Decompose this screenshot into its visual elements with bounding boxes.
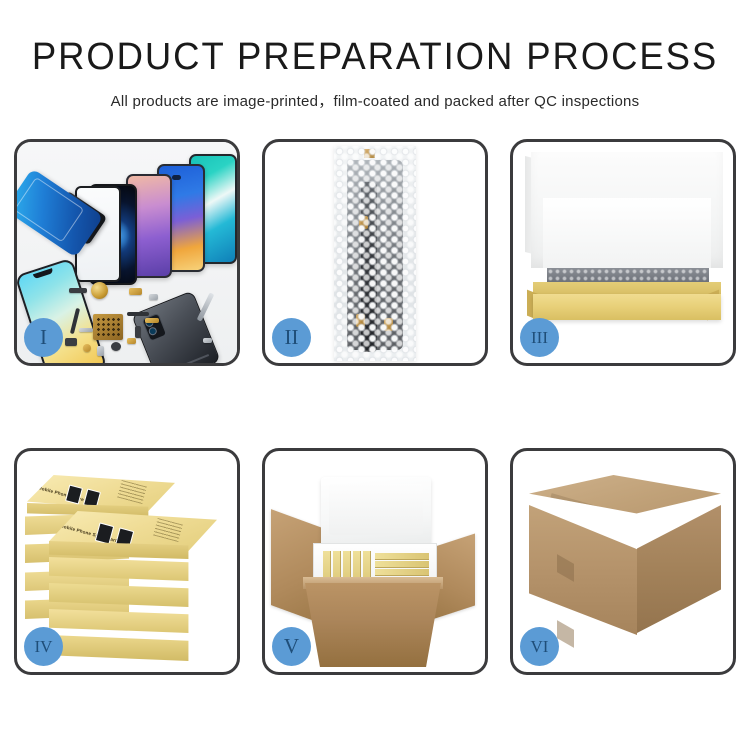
process-step-5[interactable]: V	[262, 448, 488, 675]
header: PRODUCT PREPARATION PROCESS All products…	[0, 0, 750, 111]
small-part	[127, 338, 136, 344]
box-spec-lines	[153, 518, 183, 542]
small-part	[83, 344, 91, 352]
small-part	[145, 318, 159, 323]
step-3-badge: III	[520, 318, 559, 357]
small-part	[129, 288, 142, 295]
box-plain	[49, 557, 217, 581]
small-part	[65, 338, 77, 346]
product-preparation-infographic: PRODUCT PREPARATION PROCESS All products…	[0, 0, 750, 750]
carton-left-face	[529, 505, 637, 635]
bubble-wrap-bag-icon	[334, 146, 416, 361]
step-1-badge: I	[24, 318, 63, 357]
box-printed-front: Mobile Phone Spare Parts	[49, 511, 217, 559]
box-front-panel-icon	[533, 294, 721, 320]
step-4-badge: IV	[24, 627, 63, 666]
chip-grid-icon	[93, 314, 123, 340]
small-part	[149, 294, 158, 300]
foam-lid-icon	[321, 477, 431, 549]
page-title: PRODUCT PREPARATION PROCESS	[15, 38, 735, 76]
process-step-6[interactable]: VI	[510, 448, 736, 675]
step-2-badge: II	[272, 318, 311, 357]
page-subtitle: All products are image-printed，film-coat…	[0, 90, 750, 111]
bubble-texture	[334, 146, 416, 361]
box-plain	[49, 609, 217, 633]
small-part	[69, 288, 87, 293]
small-part	[97, 346, 104, 356]
foam-liner-icon	[543, 198, 711, 268]
carton-body	[305, 583, 441, 667]
carton-tape-tab	[557, 620, 574, 648]
small-part	[111, 342, 121, 351]
process-step-grid: I II	[14, 139, 736, 675]
small-part	[79, 328, 93, 332]
process-step-3[interactable]: III	[510, 139, 736, 366]
box-plain	[49, 583, 217, 607]
carton-right-face	[637, 505, 721, 633]
sealed-carton-icon	[529, 475, 721, 647]
process-step-4[interactable]: Mobile Phone Spare Parts Mobile Phone Sp…	[14, 448, 240, 675]
process-step-2[interactable]: II	[262, 139, 488, 366]
box-plain	[49, 635, 217, 661]
step-6-badge: VI	[520, 627, 559, 666]
housing-detail	[186, 354, 209, 363]
small-part	[135, 326, 141, 338]
flex-cable-icon	[127, 312, 149, 316]
process-step-1[interactable]: I	[14, 139, 240, 366]
speaker-coil-icon	[91, 282, 108, 299]
step-5-badge: V	[272, 627, 311, 666]
box-spec-lines	[117, 480, 147, 504]
small-part	[203, 338, 212, 343]
